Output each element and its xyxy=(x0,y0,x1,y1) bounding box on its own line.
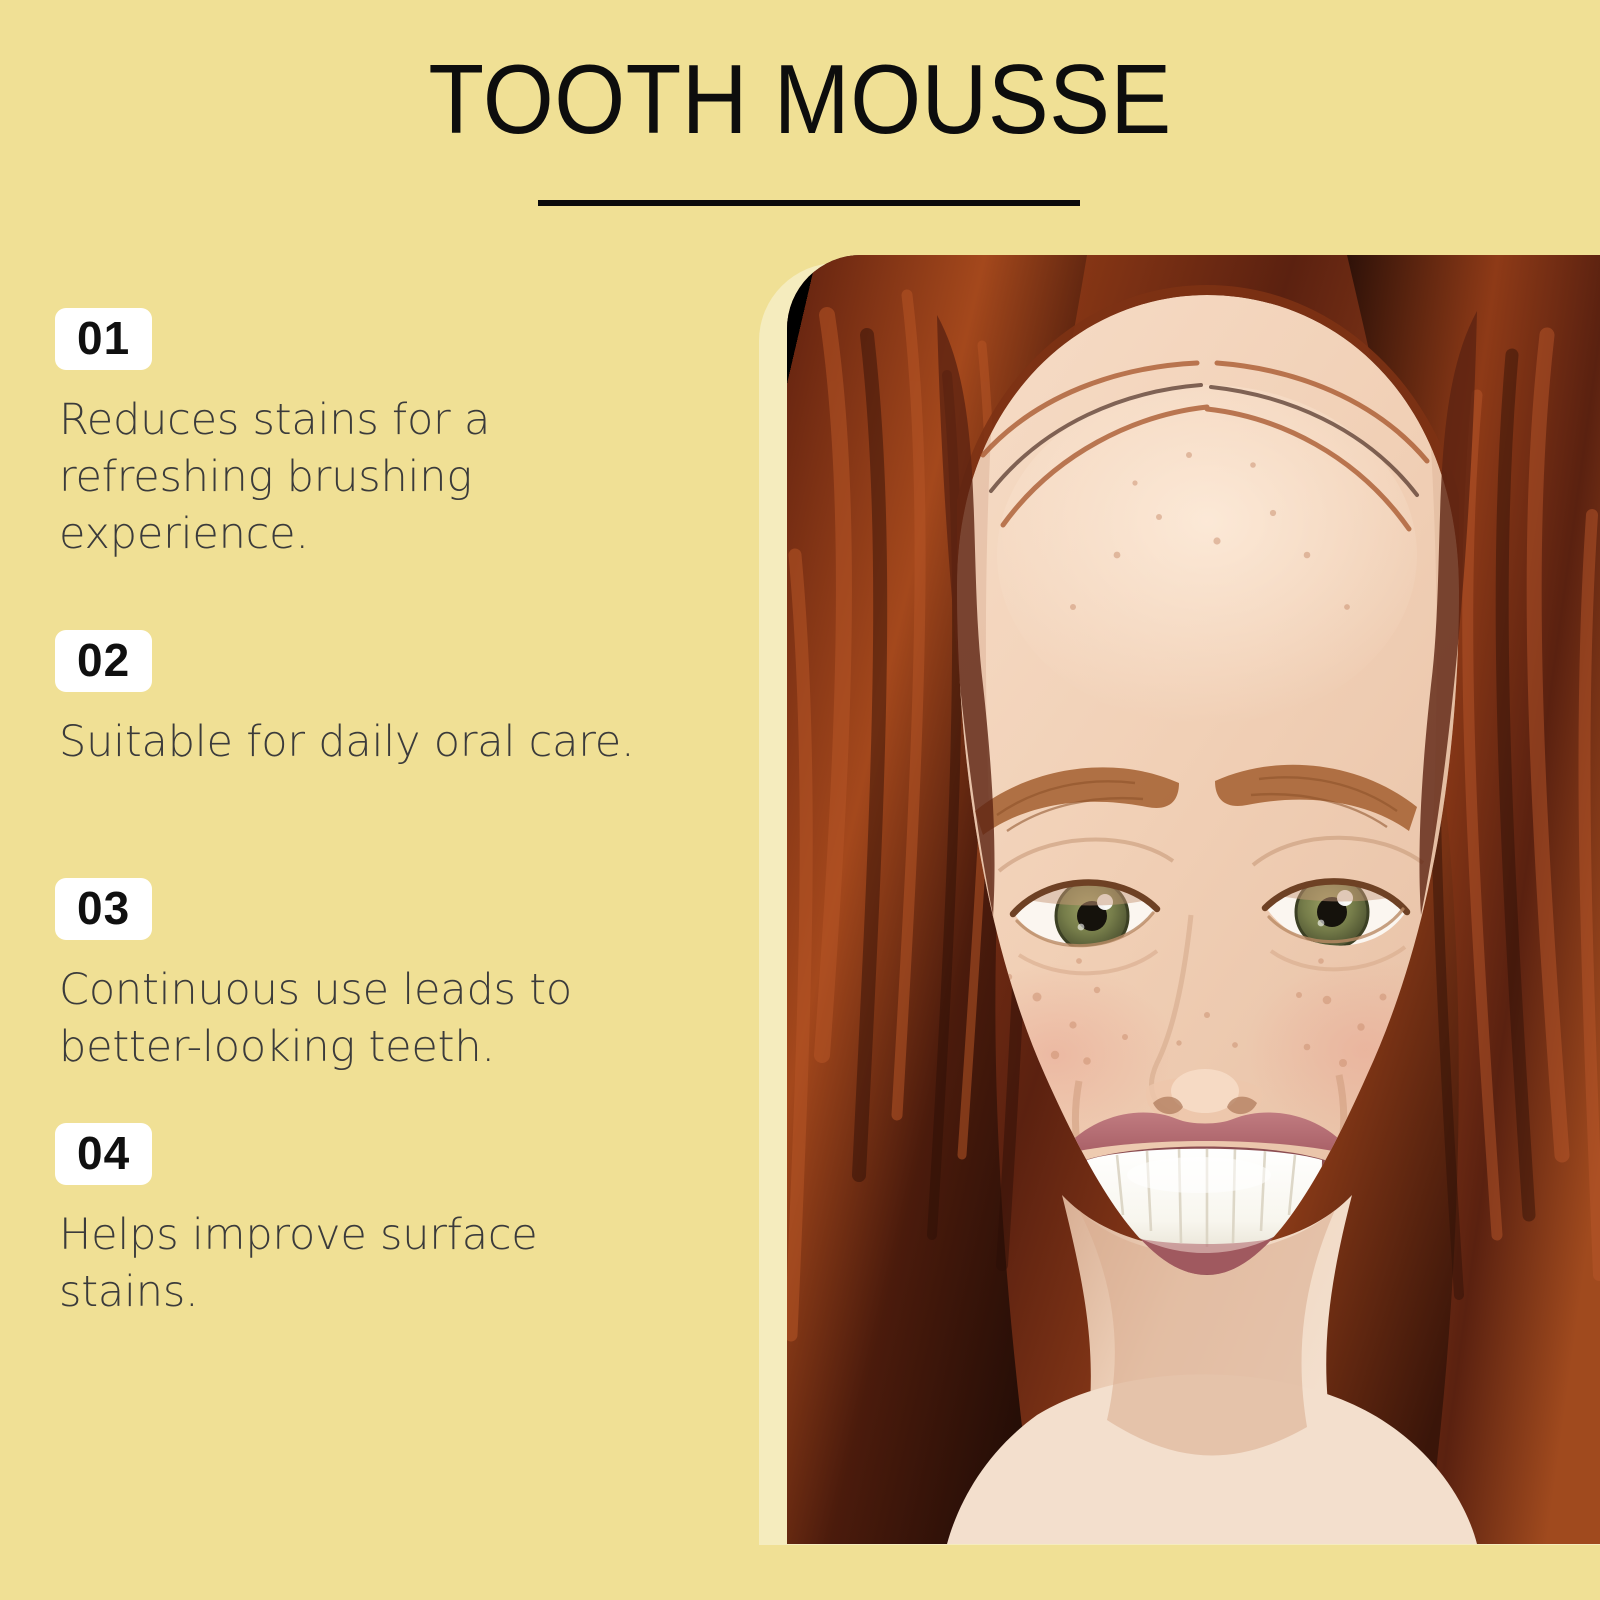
list-item: 04 Helps improve surface stains. xyxy=(55,1123,679,1321)
status-badge: 01 xyxy=(55,308,152,370)
status-badge: 02 xyxy=(55,630,152,692)
badge-number: 03 xyxy=(77,885,130,931)
model-photo xyxy=(787,255,1600,1544)
badge-number: 01 xyxy=(77,315,130,361)
feature-description: Suitable for daily oral care. xyxy=(59,714,635,771)
list-item: 03 Continuous use leads to better-lookin… xyxy=(55,878,679,1076)
status-badge: 04 xyxy=(55,1123,152,1185)
badge-number: 02 xyxy=(77,637,130,683)
feature-description: Continuous use leads to better-looking t… xyxy=(59,962,679,1076)
poster-canvas: TOOTH MOUSSE 01 Reduces stains for a ref… xyxy=(0,0,1600,1600)
status-badge: 03 xyxy=(55,878,152,940)
list-item: 02 Suitable for daily oral care. xyxy=(55,630,635,771)
title-divider xyxy=(538,200,1080,206)
badge-number: 04 xyxy=(77,1130,130,1176)
title-block: TOOTH MOUSSE xyxy=(0,0,1600,151)
feature-description: Helps improve surface stains. xyxy=(59,1207,679,1321)
model-photo-illustration xyxy=(787,255,1600,1544)
feature-description: Reduces stains for a refreshing brushing… xyxy=(59,392,679,564)
list-item: 01 Reduces stains for a refreshing brush… xyxy=(55,308,679,564)
page-title: TOOTH MOUSSE xyxy=(56,0,1544,151)
